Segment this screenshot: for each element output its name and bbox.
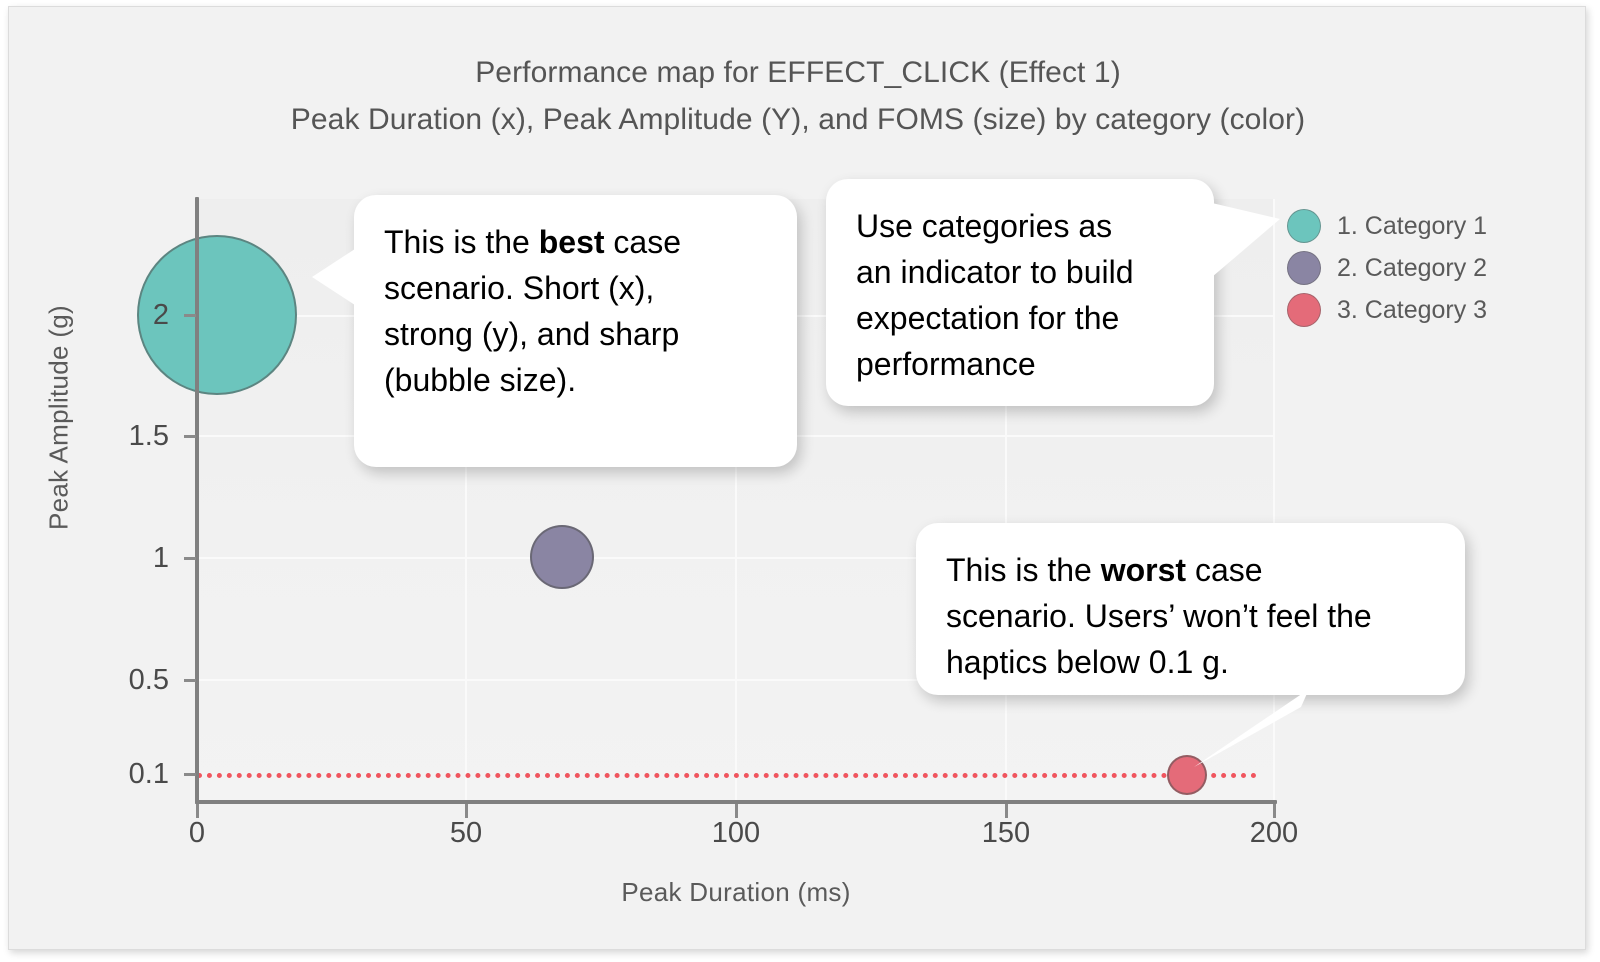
x-tick-mark-0 xyxy=(196,804,199,818)
callout-best-case: This is the best case scenario. Short (x… xyxy=(354,195,797,467)
callout-best-case-tail-icon xyxy=(312,247,358,307)
y-axis-label: Peak Amplitude (g) xyxy=(44,188,75,648)
x-tick-label-100: 100 xyxy=(676,819,796,848)
callout-categories-note-tail-icon xyxy=(1212,203,1280,277)
bubble-category-2[interactable] xyxy=(530,525,594,589)
x-axis-label: Peak Duration (ms) xyxy=(195,877,1277,908)
legend-item-category-1[interactable]: 1. Category 1 xyxy=(1287,205,1577,247)
x-tick-mark-200 xyxy=(1273,804,1276,818)
x-tick-mark-100 xyxy=(735,804,738,818)
callout-worst-case-line-1: This is the worst case xyxy=(946,547,1435,593)
callout-best-case-line-1: This is the best case xyxy=(384,219,767,265)
legend-label-category-2: 2. Category 2 xyxy=(1337,254,1487,283)
x-tick-label-150: 150 xyxy=(946,819,1066,848)
callout-categories-line-1: Use categories as xyxy=(856,203,1184,249)
y-axis-spine xyxy=(195,197,199,804)
legend-label-category-1: 1. Category 1 xyxy=(1337,212,1487,241)
y-tick-label-1p5: 1.5 xyxy=(59,422,169,451)
callout-best-case-text-b: case xyxy=(605,224,681,260)
chart-screenshot: Performance map for EFFECT_CLICK (Effect… xyxy=(0,0,1600,962)
chart-title-line-2: Peak Duration (x), Peak Amplitude (Y), a… xyxy=(9,96,1586,143)
legend-swatch-icon-category-1 xyxy=(1287,209,1321,243)
y-tick-label-0p1: 0.1 xyxy=(59,760,169,789)
callout-best-case-line-4: (bubble size). xyxy=(384,357,767,403)
y-tick-mark-2 xyxy=(184,314,196,317)
y-tick-label-0p5: 0.5 xyxy=(59,666,169,695)
x-tick-label-50: 50 xyxy=(406,819,526,848)
x-tick-mark-150 xyxy=(1005,804,1008,818)
callout-best-case-line-3: strong (y), and sharp xyxy=(384,311,767,357)
chart-title-line-1: Performance map for EFFECT_CLICK (Effect… xyxy=(9,49,1586,96)
y-tick-mark-0p1 xyxy=(184,773,196,776)
x-tick-mark-50 xyxy=(465,804,468,818)
callout-worst-case-tail-icon xyxy=(1179,689,1319,769)
callout-worst-case-line-3: haptics below 0.1 g. xyxy=(946,639,1435,685)
callout-worst-case: This is the worst case scenario. Users’ … xyxy=(916,523,1465,695)
callout-categories-line-3: expectation for the xyxy=(856,295,1184,341)
legend: 1. Category 1 2. Category 2 3. Category … xyxy=(1287,205,1577,331)
callout-best-case-text-a: This is the xyxy=(384,224,539,260)
callout-categories-note: Use categories as an indicator to build … xyxy=(826,179,1214,406)
y-tick-mark-0p5 xyxy=(184,679,196,682)
y-tick-mark-1 xyxy=(184,557,196,560)
callout-worst-case-text-b: case xyxy=(1186,552,1262,588)
callout-worst-case-text-a: This is the xyxy=(946,552,1101,588)
legend-label-category-3: 3. Category 3 xyxy=(1337,296,1487,325)
chart-title: Performance map for EFFECT_CLICK (Effect… xyxy=(9,49,1586,143)
callout-worst-case-line-2: scenario. Users’ won’t feel the xyxy=(946,593,1435,639)
y-tick-mark-1p5 xyxy=(184,435,196,438)
threshold-line-0p1g xyxy=(197,773,1257,778)
callout-categories-line-4: performance xyxy=(856,341,1184,387)
callout-best-case-bold: best xyxy=(539,224,605,260)
y-tick-label-2: 2 xyxy=(59,301,169,330)
y-tick-label-1: 1 xyxy=(59,544,169,573)
chart-card: Performance map for EFFECT_CLICK (Effect… xyxy=(8,6,1586,950)
legend-swatch-icon-category-3 xyxy=(1287,293,1321,327)
legend-swatch-icon-category-2 xyxy=(1287,251,1321,285)
callout-worst-case-bold: worst xyxy=(1101,552,1186,588)
x-tick-label-200: 200 xyxy=(1214,819,1334,848)
callout-best-case-line-2: scenario. Short (x), xyxy=(384,265,767,311)
x-tick-label-0: 0 xyxy=(137,819,257,848)
legend-item-category-3[interactable]: 3. Category 3 xyxy=(1287,289,1577,331)
legend-item-category-2[interactable]: 2. Category 2 xyxy=(1287,247,1577,289)
callout-categories-line-2: an indicator to build xyxy=(856,249,1184,295)
